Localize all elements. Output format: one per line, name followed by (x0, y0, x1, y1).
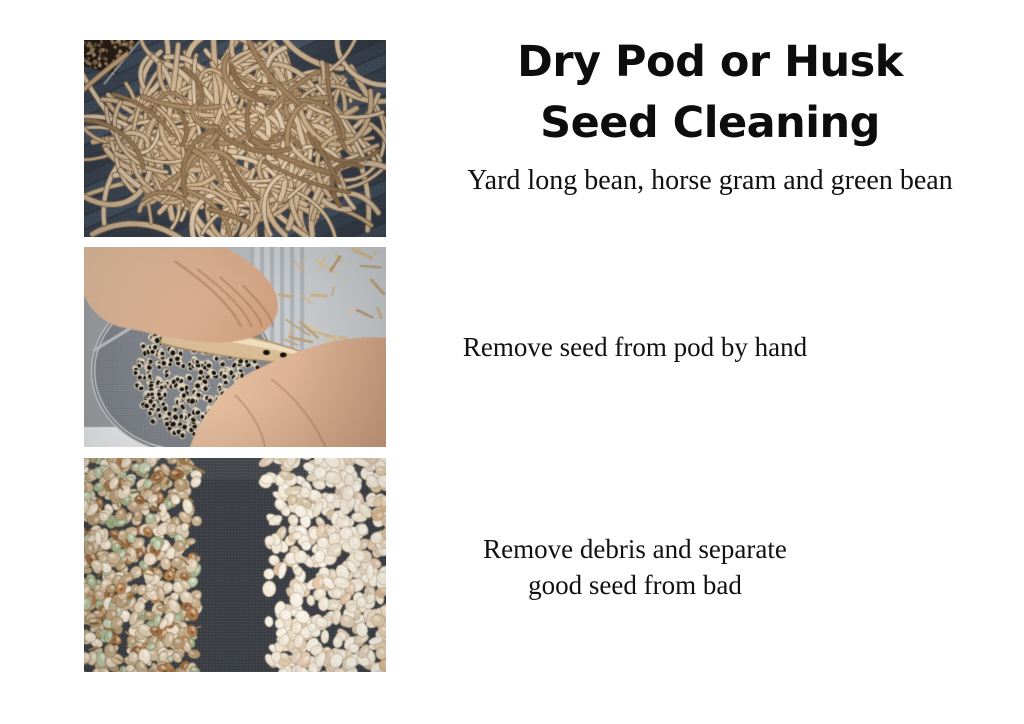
slide-canvas: Dry Pod or Husk Seed Cleaning Yard long … (0, 0, 1024, 724)
hand-shelling-pod-photo (84, 247, 386, 447)
title-line-1: Dry Pod or Husk (410, 32, 1010, 93)
caption-remove-seed-from-pod: Remove seed from pod by hand (400, 331, 870, 363)
dry-bean-pods-photo (84, 40, 386, 237)
subtitle-text: Yard long bean, horse gram and green bea… (410, 164, 1010, 198)
caption-bottom-line-1: Remove debris and separate (415, 531, 855, 567)
clean-vs-debris-seeds-photo (84, 458, 386, 672)
page-title: Dry Pod or Husk Seed Cleaning (410, 32, 1010, 154)
title-line-2: Seed Cleaning (410, 93, 1010, 154)
caption-remove-debris: Remove debris and separate good seed fro… (415, 531, 855, 604)
caption-bottom-line-2: good seed from bad (415, 567, 855, 603)
